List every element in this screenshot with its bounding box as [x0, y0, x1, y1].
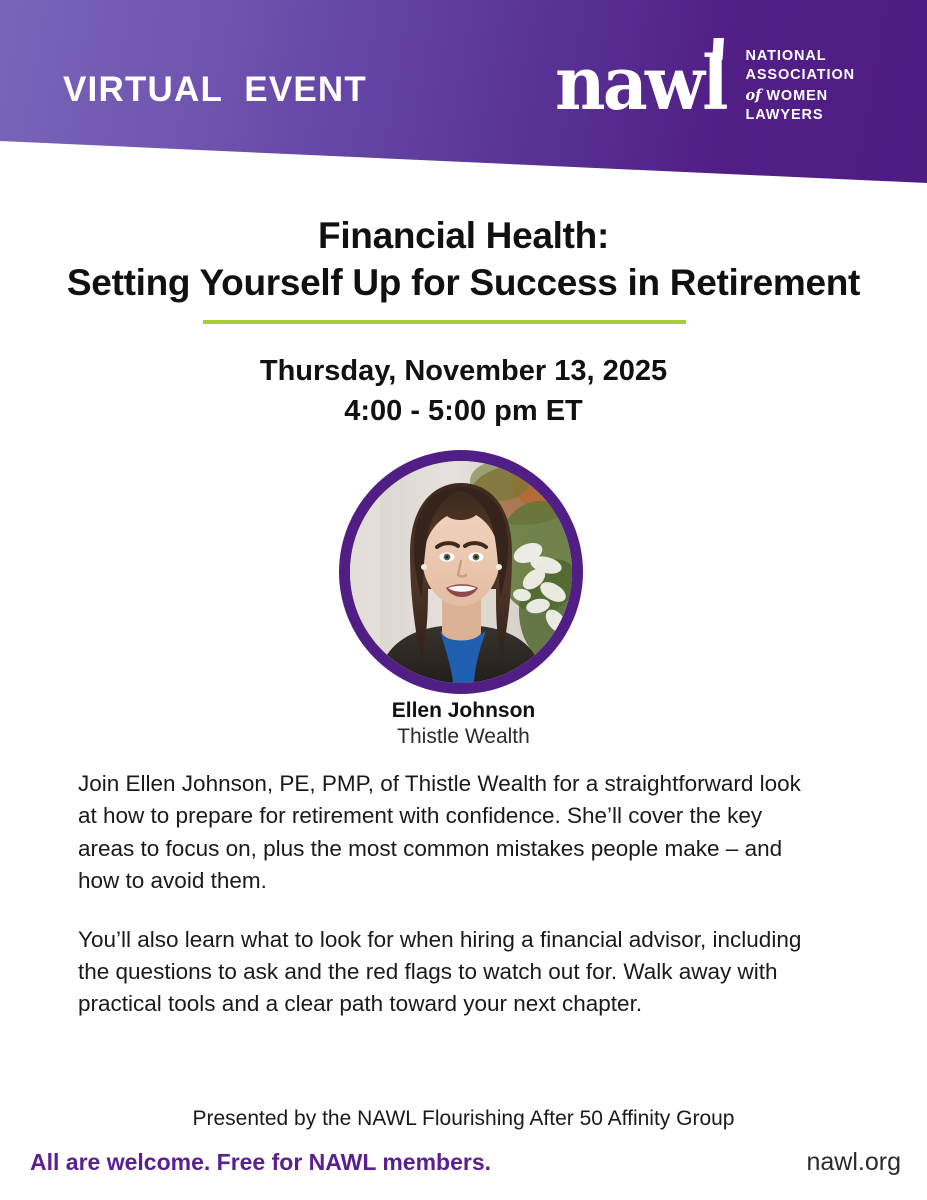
- description-paragraph-2: You’ll also learn what to look for when …: [78, 924, 808, 1021]
- page-title: Financial Health: Setting Yourself Up fo…: [0, 213, 927, 307]
- description-paragraph-1: Join Ellen Johnson, PE, PMP, of Thistle …: [78, 768, 808, 898]
- nawl-logo: nawl NATIONAL ASSOCIATION of WOMEN LAWYE…: [555, 44, 855, 126]
- presented-by-text: Presented by the NAWL Flourishing After …: [0, 1105, 927, 1132]
- event-date: Thursday, November 13, 2025: [0, 352, 927, 392]
- speaker-avatar: [350, 461, 572, 683]
- event-type-label: VIRTUAL EVENT: [63, 72, 367, 107]
- event-time: 4:00 - 5:00 pm ET: [0, 392, 927, 432]
- logo-tagline-line-2: ASSOCIATION: [745, 66, 855, 85]
- nawl-wordmark-text: nawl: [555, 56, 726, 114]
- speaker-name: Ellen Johnson: [0, 697, 927, 724]
- event-description: Join Ellen Johnson, PE, PMP, of Thistle …: [78, 768, 808, 1021]
- logo-tagline-line-4: LAWYERS: [745, 106, 855, 125]
- page-title-line-2: Setting Yourself Up for Success in Retir…: [0, 260, 927, 307]
- logo-tagline-line-1: NATIONAL: [745, 47, 855, 66]
- event-datetime: Thursday, November 13, 2025 4:00 - 5:00 …: [0, 352, 927, 431]
- page-title-line-1: Financial Health:: [0, 213, 927, 260]
- speaker-organization: Thistle Wealth: [0, 723, 927, 750]
- speaker-photo-ring: [339, 450, 583, 694]
- title-divider: [203, 320, 686, 324]
- event-flyer: VIRTUAL EVENT nawl NATIONAL ASSOCIATION …: [0, 0, 927, 1200]
- logo-tagline-line-3: of WOMEN: [745, 86, 855, 106]
- nawl-logo-tagline: NATIONAL ASSOCIATION of WOMEN LAWYERS: [745, 44, 855, 126]
- logo-tagline-women: WOMEN: [766, 88, 828, 104]
- nawl-wordmark-dot-icon: [712, 38, 724, 60]
- website-url[interactable]: nawl.org: [807, 1146, 902, 1179]
- nawl-wordmark-letters: nawl: [555, 41, 726, 127]
- welcome-note: All are welcome. Free for NAWL members.: [30, 1148, 491, 1178]
- logo-tagline-of: of: [745, 87, 761, 104]
